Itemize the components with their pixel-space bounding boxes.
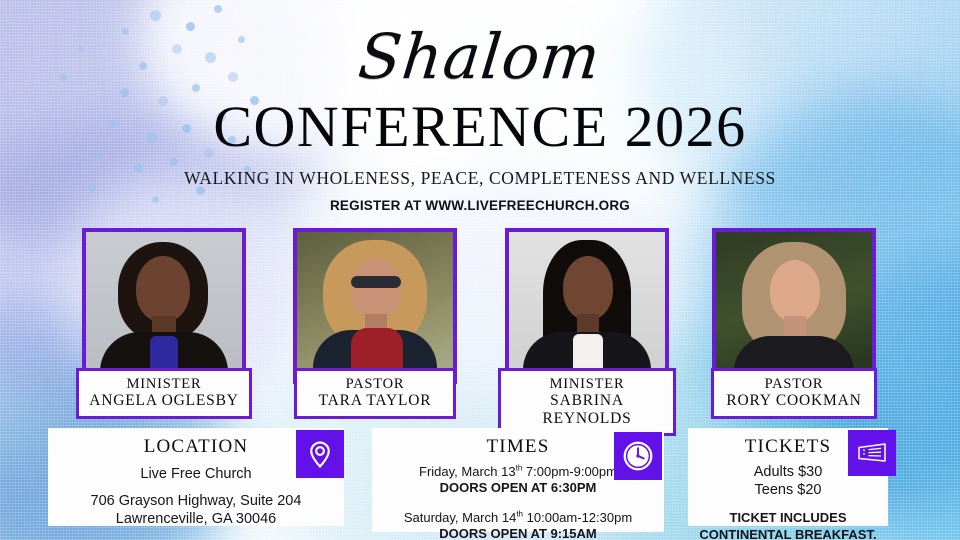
speaker-photo: [716, 232, 872, 380]
speaker-list: MINISTER ANGELA OGLESBY: [0, 228, 960, 418]
times-friday-date: Friday, March 13: [419, 464, 516, 479]
speaker-photo-frame: [712, 228, 876, 384]
flyer-header: Shalom CONFERENCE 2026 WALKING IN WHOLEN…: [0, 26, 960, 213]
speaker-nameplate: MINISTER ANGELA OGLESBY: [76, 368, 252, 419]
location-venue: Live Free Church: [58, 465, 334, 483]
times-friday-time: 7:00pm-9:00pm: [522, 464, 617, 479]
tagline: WALKING IN WHOLENESS, PEACE, COMPLETENES…: [0, 168, 960, 189]
tickets-teens-price: Teens $20: [698, 481, 878, 499]
ticket-icon: [848, 430, 896, 476]
location-address-line-1: 706 Grayson Highway, Suite 204: [58, 492, 334, 510]
clock-icon: [614, 432, 662, 480]
speaker-name: SABRINA REYNOLDS: [507, 392, 667, 427]
speaker-nameplate: MINISTER SABRINA REYNOLDS: [498, 368, 676, 436]
speaker-nameplate: PASTOR TARA TAYLOR: [294, 368, 456, 419]
speaker-photo-frame: [82, 228, 246, 384]
script-title: Shalom: [356, 26, 604, 88]
conference-flyer: Shalom CONFERENCE 2026 WALKING IN WHOLEN…: [0, 0, 960, 540]
speaker-card[interactable]: MINISTER SABRINA REYNOLDS: [505, 228, 669, 384]
map-pin-icon: [296, 430, 344, 478]
tickets-includes-line-2: CONTINENTAL BREAKFAST.: [698, 527, 878, 540]
speaker-role: PASTOR: [720, 376, 868, 392]
speaker-name: ANGELA OGLESBY: [85, 392, 243, 409]
location-title: LOCATION: [58, 436, 334, 458]
speaker-name: TARA TAYLOR: [303, 392, 447, 409]
register-link[interactable]: REGISTER AT WWW.LIVEFREECHURCH.ORG: [0, 198, 960, 213]
page-title: CONFERENCE 2026: [0, 98, 960, 156]
speaker-photo: [297, 232, 453, 380]
speaker-nameplate: PASTOR RORY COOKMAN: [711, 368, 877, 419]
speaker-role: PASTOR: [303, 376, 447, 392]
speaker-photo: [509, 232, 665, 380]
speaker-role: MINISTER: [85, 376, 243, 392]
speaker-photo: [86, 232, 242, 380]
speaker-name: RORY COOKMAN: [720, 392, 868, 409]
times-saturday-date: Saturday, March 14: [404, 510, 516, 525]
times-saturday-time: 10:00am-12:30pm: [523, 510, 632, 525]
speaker-photo-frame: [505, 228, 669, 384]
speaker-card[interactable]: PASTOR TARA TAYLOR: [293, 228, 457, 384]
location-address-line-2: Lawrenceville, GA 30046: [58, 510, 334, 528]
times-friday-doors: DOORS OPEN AT 6:30PM: [382, 480, 654, 496]
speaker-role: MINISTER: [507, 376, 667, 392]
speaker-card[interactable]: PASTOR RORY COOKMAN: [712, 228, 876, 384]
speaker-photo-frame: [293, 228, 457, 384]
speaker-card[interactable]: MINISTER ANGELA OGLESBY: [82, 228, 246, 384]
tickets-includes-line-1: TICKET INCLUDES: [698, 510, 878, 526]
times-saturday-doors: DOORS OPEN AT 9:15AM: [382, 526, 654, 540]
times-saturday: Saturday, March 14th 10:00am-12:30pm: [382, 510, 654, 526]
